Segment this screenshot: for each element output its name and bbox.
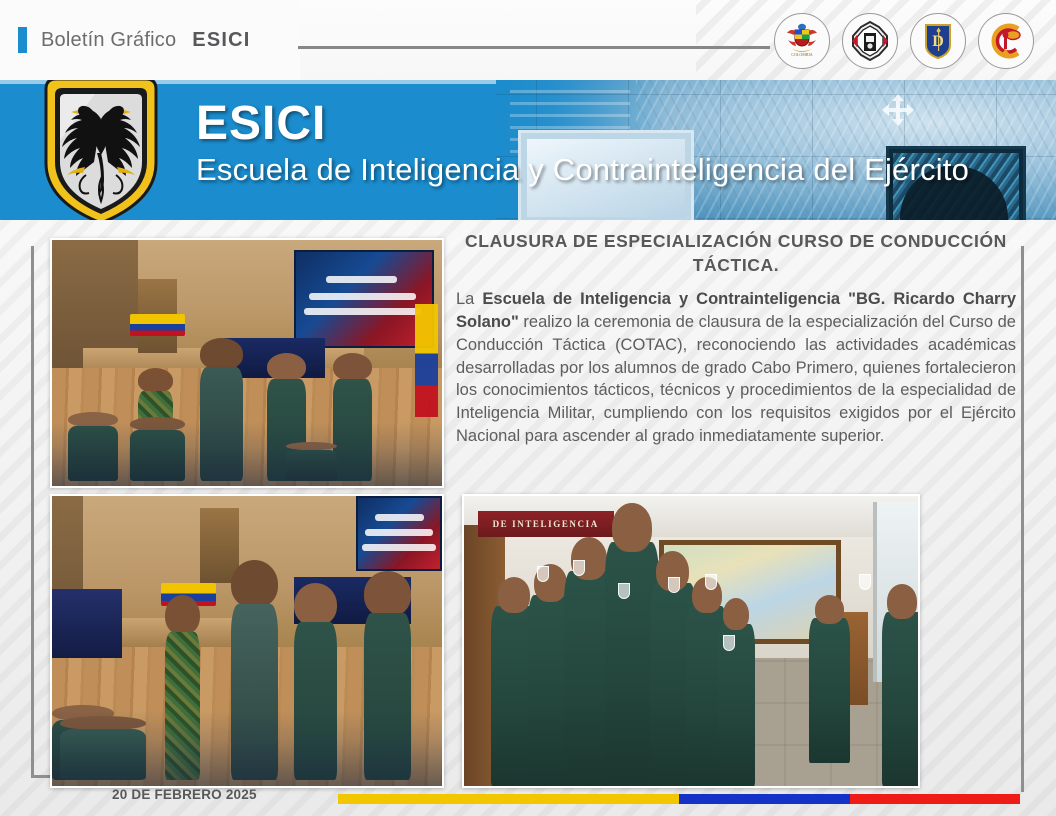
brand-label: Boletín Gráfico — [41, 29, 176, 52]
flag-stripe-bar — [338, 794, 1020, 804]
flag-stripe-blue — [679, 794, 850, 804]
photo2-scene — [52, 496, 442, 786]
photo-toast-officers[interactable]: DE INTELIGENCIA — [462, 494, 920, 788]
double-headed-eagle-shield-icon — [38, 80, 164, 220]
article-column: CLAUSURA DE ESPECIALIZACIÓN CURSO DE CON… — [456, 230, 1016, 448]
photo3-wall-sign: DE INTELIGENCIA — [478, 511, 614, 537]
photo1-scene — [52, 240, 442, 486]
emblem-group: COLOMBIA D — [774, 13, 1034, 69]
photo-ceremony-handshake[interactable] — [50, 494, 444, 788]
flag-stripe-yellow — [338, 794, 679, 804]
article-body: La Escuela de Inteligencia y Contraintel… — [456, 288, 1016, 447]
photo3-scene: DE INTELIGENCIA — [464, 496, 918, 786]
jefatura-inteligencia-icon — [842, 13, 898, 69]
banner-title: ESICI — [196, 100, 969, 148]
photo1-stage-screen — [294, 250, 434, 348]
banner-subtitle: Escuela de Inteligencia y Contraintelige… — [196, 154, 969, 187]
brand-plate: Boletín Gráfico ESICI — [0, 0, 300, 80]
svg-text:D: D — [932, 33, 944, 50]
comando-c-icon — [978, 13, 1034, 69]
flag-stripe-red — [850, 794, 1021, 804]
brand-accent-bar — [18, 27, 27, 53]
frame-left-line — [31, 246, 34, 778]
escudo-colombia-icon: COLOMBIA — [774, 13, 830, 69]
brand-name: ESICI — [192, 29, 250, 52]
svg-text:COLOMBIA: COLOMBIA — [791, 52, 812, 57]
publication-date: 20 DE FEBRERO 2025 — [112, 787, 257, 802]
banner-title-block: ESICI Escuela de Inteligencia y Contrain… — [196, 100, 969, 187]
article-headline: CLAUSURA DE ESPECIALIZACIÓN CURSO DE CON… — [456, 230, 1016, 277]
top-bar: Boletín Gráfico ESICI COLOMBIA — [0, 0, 1056, 80]
content-area: DE INTELIGENCIA CLAUSURA DE ESPECIALIZAC… — [0, 220, 1056, 816]
header-divider-rule — [298, 46, 770, 49]
frame-right-line — [1021, 246, 1024, 792]
division-d-icon: D — [910, 13, 966, 69]
photo-ceremony-diploma[interactable] — [50, 238, 444, 488]
main-banner: ESICI Escuela de Inteligencia y Contrain… — [0, 80, 1056, 220]
